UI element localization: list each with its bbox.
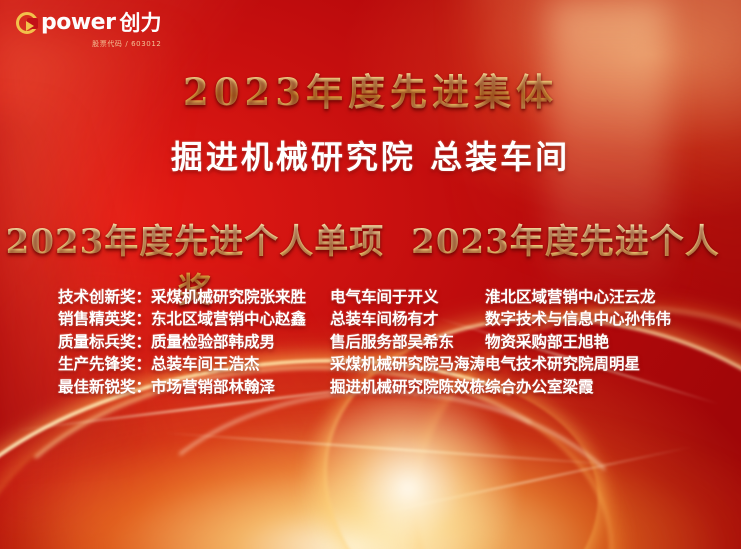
collective-winners: 掘进机械研究院 总装车间: [0, 132, 741, 178]
light-streak-decoration: [164, 432, 622, 466]
list-item: 最佳新锐奖：市场营销部林翰泽: [58, 376, 330, 398]
individual-awards-column: 电气车间于开义 淮北区域营销中心汪云龙 总装车间杨有才 数字技术与信息中心孙伟伟…: [330, 286, 741, 398]
light-streak-decoration: [359, 446, 693, 519]
winner-name: 数字技术与信息中心孙伟伟: [485, 308, 685, 330]
stock-code-label: 股票代码 / 603012: [16, 39, 161, 49]
list-item: 电气车间于开义 淮北区域营销中心汪云龙: [330, 286, 741, 308]
winner-name: 综合办公室梁霞: [485, 376, 685, 398]
winner-name: 淮北区域营销中心汪云龙: [485, 286, 685, 308]
brand-name-en: power: [41, 12, 115, 34]
list-item: 采煤机械研究院马海涛 电气技术研究院周明星: [330, 353, 741, 375]
special-awards-column: 技术创新奖：采煤机械研究院张来胜 销售精英奖：东北区域营销中心赵鑫 质量标兵奖：…: [0, 286, 330, 398]
list-item: 生产先锋奖：总装车间王浩杰: [58, 353, 330, 375]
brand-name-cn: 创力: [119, 13, 161, 34]
list-item: 总装车间杨有才 数字技术与信息中心孙伟伟: [330, 308, 741, 330]
list-item: 质量标兵奖：质量检验部韩成男: [58, 331, 330, 353]
list-item: 掘进机械研究院陈效栋 综合办公室梁霞: [330, 376, 741, 398]
light-hotspot-decoration: [282, 395, 534, 549]
list-item: 售后服务部吴希东 物资采购部王旭艳: [330, 331, 741, 353]
winner-name: 电气车间于开义: [330, 286, 485, 308]
list-item: 技术创新奖：采煤机械研究院张来胜: [58, 286, 330, 308]
list-item: 销售精英奖：东北区域营销中心赵鑫: [58, 308, 330, 330]
winner-lists: 技术创新奖：采煤机械研究院张来胜 销售精英奖：东北区域营销中心赵鑫 质量标兵奖：…: [0, 286, 741, 398]
brand-logo: power 创力 股票代码 / 603012: [16, 12, 161, 49]
light-ribbon-decoration: [97, 382, 678, 549]
award-poster: power 创力 股票代码 / 603012 2023年度先进集体 掘进机械研究…: [0, 0, 741, 549]
winner-name: 总装车间杨有才: [330, 308, 485, 330]
power-logo-icon: [16, 12, 38, 34]
winner-name: 掘进机械研究院陈效栋: [330, 376, 485, 398]
winner-name: 采煤机械研究院马海涛: [330, 353, 485, 375]
winner-name: 物资采购部王旭艳: [485, 331, 685, 353]
winner-name: 电气技术研究院周明星: [485, 353, 685, 375]
page-title: 2023年度先进集体: [0, 62, 741, 116]
winner-name: 售后服务部吴希东: [330, 331, 485, 353]
